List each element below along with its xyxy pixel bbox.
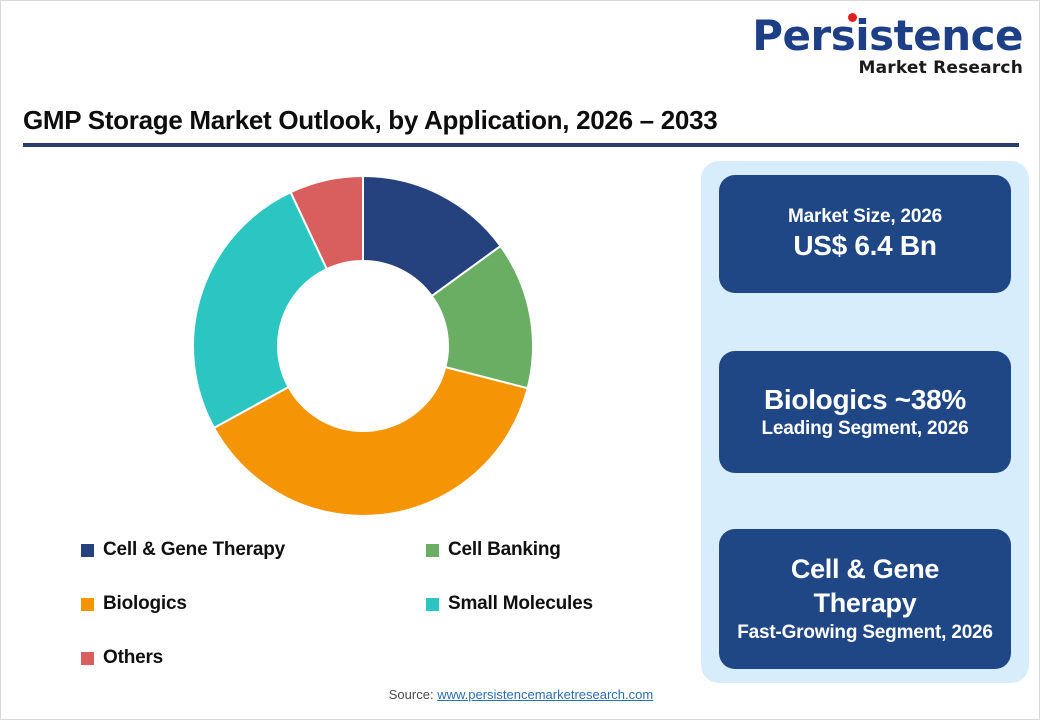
legend-swatch-icon bbox=[426, 598, 439, 611]
kpi-card-value: US$ 6.4 Bn bbox=[793, 229, 936, 263]
legend-item-biologics[interactable]: Biologics bbox=[81, 593, 187, 615]
logo-subtitle: Market Research bbox=[752, 60, 1023, 77]
title-divider bbox=[23, 143, 1019, 147]
legend-label: Small Molecules bbox=[448, 593, 593, 615]
source-url-link[interactable]: www.persistencemarketresearch.com bbox=[437, 687, 653, 702]
legend-label: Others bbox=[103, 647, 163, 669]
kpi-card-value: Biologics ~38% bbox=[764, 383, 966, 417]
donut-chart bbox=[193, 176, 533, 516]
kpi-card-value-line2: Therapy bbox=[814, 587, 917, 621]
kpi-card-fast-growing-segment: Cell & Gene Therapy Fast-Growing Segment… bbox=[719, 529, 1011, 669]
logo-brand-label: Persistence bbox=[752, 11, 1023, 60]
legend-swatch-icon bbox=[81, 544, 94, 557]
legend-item-cell-banking[interactable]: Cell Banking bbox=[426, 539, 561, 561]
legend-label: Cell & Gene Therapy bbox=[103, 539, 285, 561]
legend-label: Cell Banking bbox=[448, 539, 561, 561]
legend-label: Biologics bbox=[103, 593, 187, 615]
source-footer: Source: www.persistencemarketresearch.co… bbox=[1, 686, 1040, 704]
legend-item-cell-gene-therapy[interactable]: Cell & Gene Therapy bbox=[81, 539, 285, 561]
legend-item-small-molecules[interactable]: Small Molecules bbox=[426, 593, 593, 615]
donut-slice-group bbox=[193, 176, 533, 516]
legend-swatch-icon bbox=[426, 544, 439, 557]
kpi-card-label: Fast-Growing Segment, 2026 bbox=[737, 621, 993, 645]
kpi-card-market-size: Market Size, 2026 US$ 6.4 Bn bbox=[719, 175, 1011, 293]
donut-chart-svg bbox=[193, 176, 533, 516]
company-logo: Persistence Market Research bbox=[752, 15, 1023, 77]
page-title: GMP Storage Market Outlook, by Applicati… bbox=[23, 105, 1019, 136]
kpi-card-value-line1: Cell & Gene bbox=[791, 553, 939, 587]
chart-legend: Cell & Gene Therapy Cell Banking Biologi… bbox=[81, 537, 681, 677]
infographic-canvas: Persistence Market Research GMP Storage … bbox=[0, 0, 1040, 720]
kpi-card-label: Market Size, 2026 bbox=[788, 205, 942, 229]
kpi-card-leading-segment: Biologics ~38% Leading Segment, 2026 bbox=[719, 351, 1011, 473]
legend-item-others[interactable]: Others bbox=[81, 647, 163, 669]
source-label: Source: bbox=[389, 687, 437, 702]
legend-swatch-icon bbox=[81, 598, 94, 611]
title-block: GMP Storage Market Outlook, by Applicati… bbox=[23, 105, 1019, 147]
kpi-card-label: Leading Segment, 2026 bbox=[762, 417, 969, 441]
kpi-panel: Market Size, 2026 US$ 6.4 Bn Biologics ~… bbox=[701, 161, 1029, 683]
legend-swatch-icon bbox=[81, 652, 94, 665]
logo-brand-text: Persistence bbox=[752, 15, 1023, 57]
